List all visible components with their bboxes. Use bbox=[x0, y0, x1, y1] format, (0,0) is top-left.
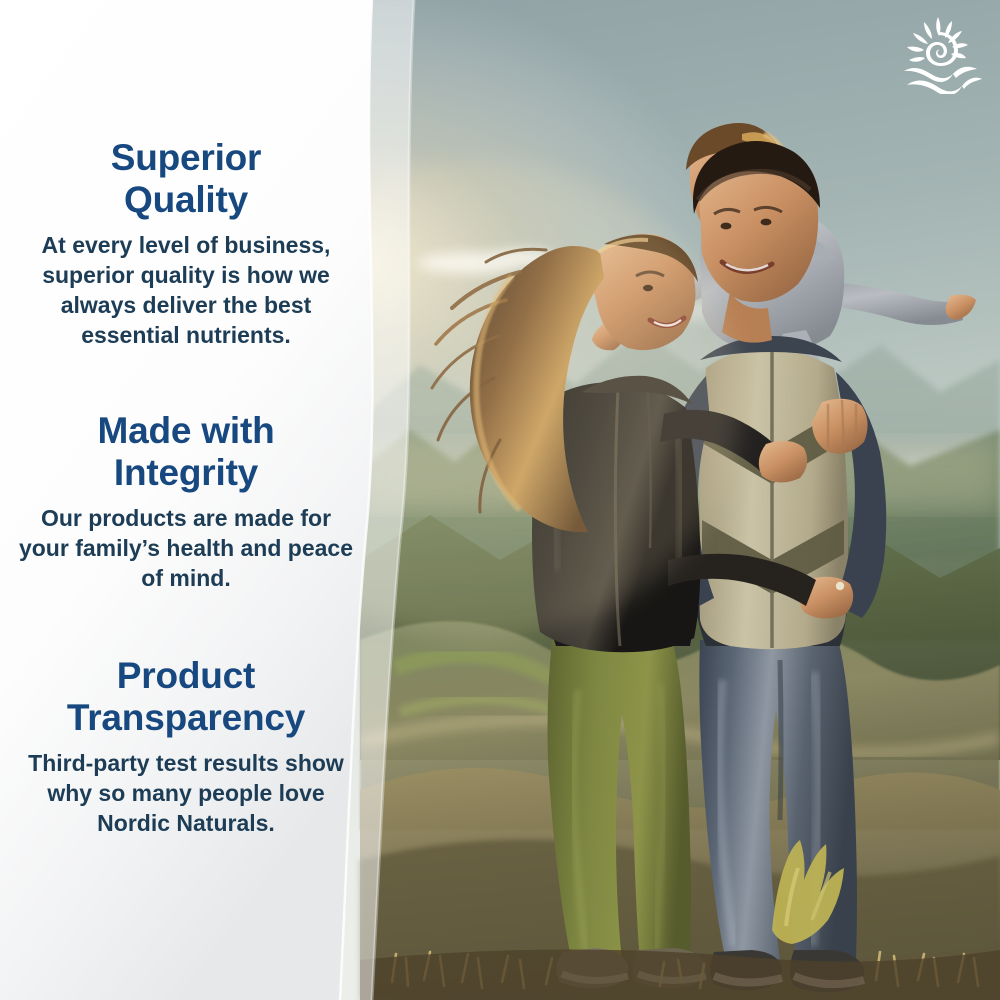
sun-wave-logo-icon bbox=[904, 17, 982, 94]
benefit-body-product-transparency: Third-party test results show why so man… bbox=[18, 748, 354, 838]
benefit-heading-product-transparency: ProductTransparency bbox=[18, 655, 354, 739]
benefit-block-product-transparency: ProductTransparency Third-party test res… bbox=[18, 655, 354, 838]
benefit-body-made-with-integrity: Our products are made for your family’s … bbox=[18, 503, 354, 593]
benefit-body-superior-quality: At every level of business, superior qua… bbox=[18, 230, 354, 350]
nordic-naturals-logo bbox=[898, 14, 982, 94]
benefit-block-made-with-integrity: Made withIntegrity Our products are made… bbox=[18, 410, 354, 593]
promo-graphic: SuperiorQuality At every level of busine… bbox=[0, 0, 1000, 1000]
benefits-text-column: SuperiorQuality At every level of busine… bbox=[0, 0, 372, 1000]
benefit-heading-made-with-integrity: Made withIntegrity bbox=[18, 410, 354, 494]
benefit-heading-superior-quality: SuperiorQuality bbox=[18, 137, 354, 221]
benefit-block-superior-quality: SuperiorQuality At every level of busine… bbox=[18, 137, 354, 350]
